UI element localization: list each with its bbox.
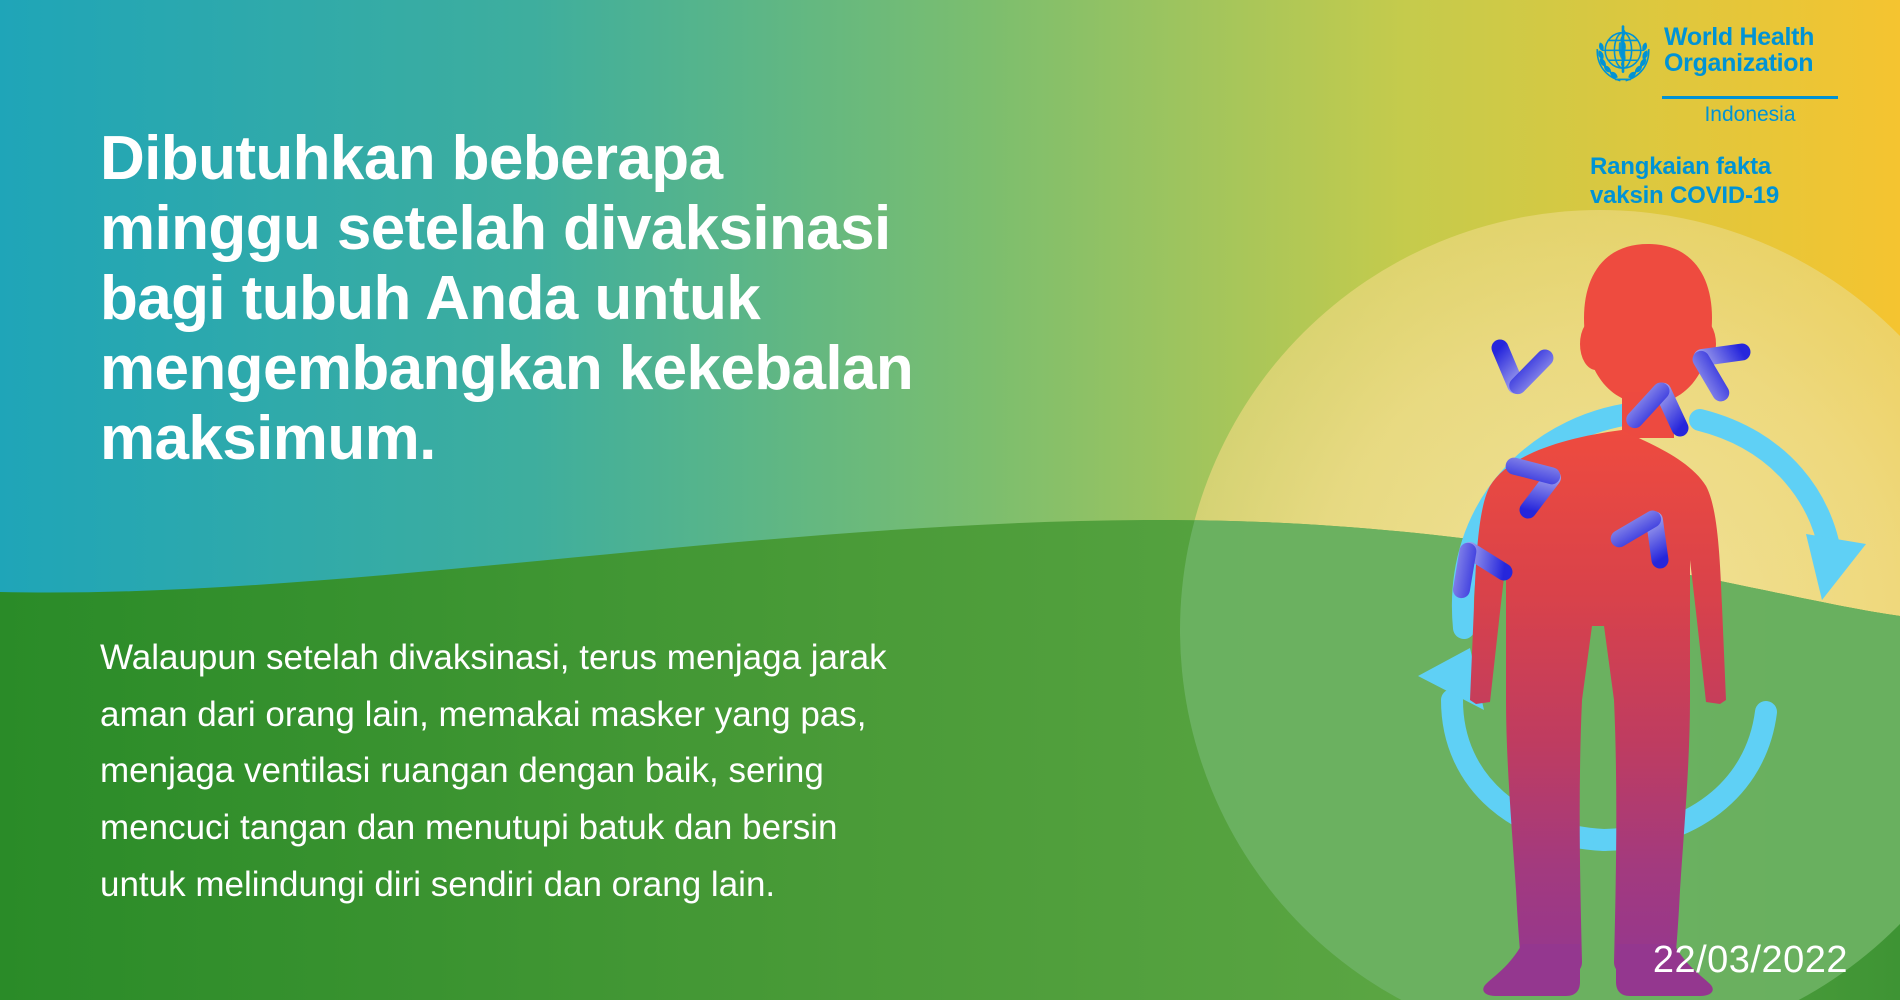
page-title: Dibutuhkan beberapa minggu setelah divak… (100, 124, 1120, 474)
infographic-poster: Dibutuhkan beberapa minggu setelah divak… (0, 0, 1900, 1000)
who-logo-row: World Health Organization (1590, 20, 1840, 91)
who-emblem-icon (1590, 20, 1656, 91)
who-divider (1662, 96, 1838, 99)
series-title: Rangkaian fakta vaksin COVID-19 (1590, 153, 1840, 211)
body-paragraph: Walaupun setelah divaksinasi, terus menj… (100, 630, 1060, 913)
who-country-label: Indonesia (1662, 103, 1838, 127)
who-branding: World Health Organization Indonesia Rang… (1590, 20, 1840, 211)
who-wordmark: World Health Organization (1664, 20, 1814, 77)
date-stamp: 22/03/2022 (1653, 939, 1848, 982)
